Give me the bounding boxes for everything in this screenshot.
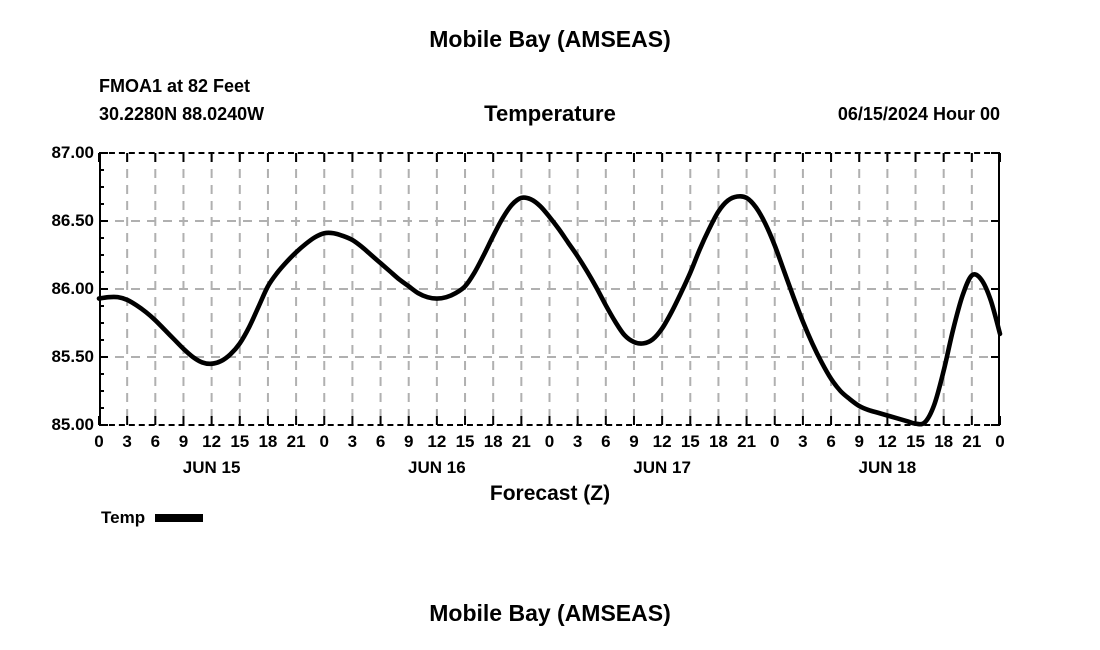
x-tick-label: 6 — [151, 432, 160, 452]
legend: Temp — [101, 508, 203, 528]
x-tick-label: 0 — [94, 432, 103, 452]
x-tick-label: 12 — [202, 432, 221, 452]
x-tick-label: 15 — [456, 432, 475, 452]
y-tick-label: 85.00 — [38, 415, 94, 435]
y-tick-label: 86.50 — [38, 211, 94, 231]
x-tick-label: 21 — [287, 432, 306, 452]
x-tick-label: 6 — [826, 432, 835, 452]
x-tick-label: 21 — [962, 432, 981, 452]
legend-swatch-temp — [155, 514, 203, 522]
x-tick-label: 3 — [798, 432, 807, 452]
temperature-line — [99, 196, 1000, 424]
x-tick-label: 9 — [179, 432, 188, 452]
x-axis-title: Forecast (Z) — [0, 482, 1100, 506]
x-tick-label: 18 — [934, 432, 953, 452]
x-tick-label: 9 — [854, 432, 863, 452]
legend-label-temp: Temp — [101, 508, 145, 528]
x-tick-label: 0 — [320, 432, 329, 452]
y-tick-label: 86.00 — [38, 279, 94, 299]
page-title: Mobile Bay (AMSEAS) — [0, 26, 1100, 53]
x-tick-label: 0 — [995, 432, 1004, 452]
y-tick-label: 85.50 — [38, 347, 94, 367]
x-tick-label: 15 — [906, 432, 925, 452]
x-tick-label: 12 — [653, 432, 672, 452]
x-tick-label: 9 — [404, 432, 413, 452]
x-tick-label: 15 — [230, 432, 249, 452]
x-tick-label: 6 — [601, 432, 610, 452]
x-tick-label: 12 — [427, 432, 446, 452]
x-tick-label: 3 — [122, 432, 131, 452]
x-tick-label: 0 — [770, 432, 779, 452]
x-tick-label: 6 — [376, 432, 385, 452]
x-tick-label: 3 — [348, 432, 357, 452]
day-label: JUN 15 — [183, 458, 241, 478]
x-tick-label: 21 — [512, 432, 531, 452]
day-label: JUN 18 — [859, 458, 917, 478]
temperature-series — [99, 153, 1000, 425]
bottom-title: Mobile Bay (AMSEAS) — [0, 600, 1100, 627]
x-tick-label: 21 — [737, 432, 756, 452]
y-tick-label: 87.00 — [38, 143, 94, 163]
x-tick-label: 18 — [484, 432, 503, 452]
x-tick-label: 12 — [878, 432, 897, 452]
chart-page: Mobile Bay (AMSEAS) FMOA1 at 82 Feet 30.… — [0, 0, 1100, 650]
station-label: FMOA1 at 82 Feet — [99, 76, 250, 97]
x-tick-label: 3 — [573, 432, 582, 452]
day-label: JUN 16 — [408, 458, 466, 478]
x-tick-label: 18 — [258, 432, 277, 452]
run-datetime-label: 06/15/2024 Hour 00 — [838, 104, 1000, 125]
x-tick-label: 0 — [545, 432, 554, 452]
x-tick-label: 18 — [709, 432, 728, 452]
x-tick-label: 15 — [681, 432, 700, 452]
x-tick-label: 9 — [629, 432, 638, 452]
day-label: JUN 17 — [633, 458, 691, 478]
plot-area — [99, 153, 1000, 425]
